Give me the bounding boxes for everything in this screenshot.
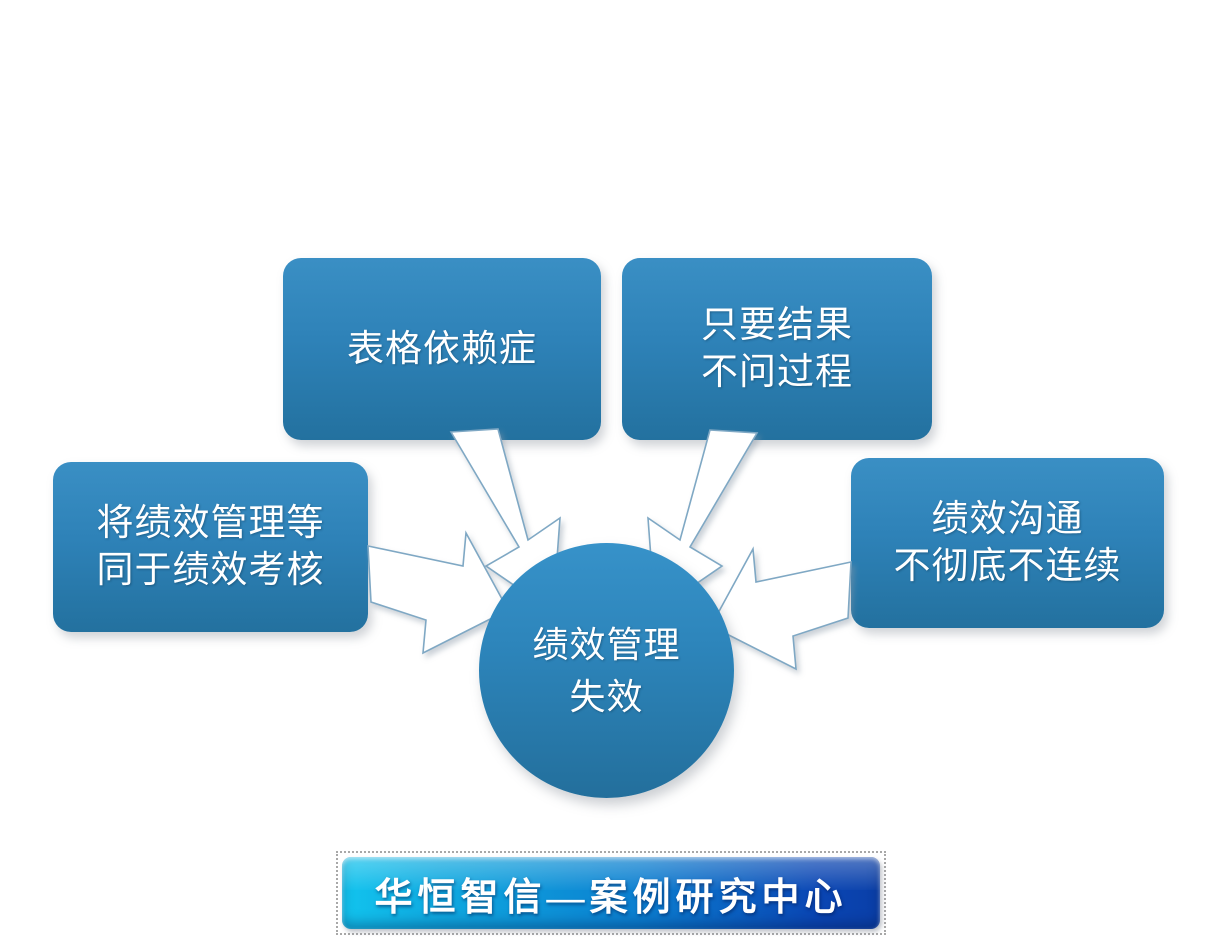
center-node-label: 绩效管理 失效 bbox=[532, 619, 680, 721]
center-node-circle[interactable]: 绩效管理 失效 bbox=[479, 543, 734, 798]
arrow-layer bbox=[0, 0, 1217, 945]
footer-banner[interactable]: 华恒智信—案例研究中心 bbox=[342, 857, 880, 929]
diagram-canvas: 表格依赖症 只要结果 不问过程 将绩效管理等 同于绩效考核 绩效沟通 不彻底不连… bbox=[0, 0, 1217, 945]
footer-banner-text: 华恒智信—案例研究中心 bbox=[374, 866, 847, 921]
